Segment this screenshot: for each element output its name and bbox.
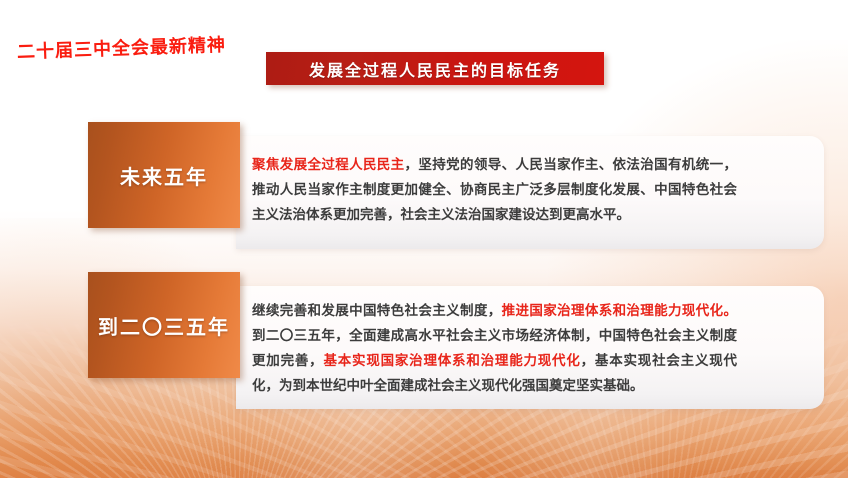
period-tag-2: 到二〇三五年 <box>88 272 240 378</box>
body-text-segment: 继续完善和发展中国特色社会主义制度， <box>252 303 502 318</box>
period-tag-label-1: 未来五年 <box>120 161 208 190</box>
highlighted-text-segment: 基本实现国家治理体系和治理能力现代化 <box>323 353 580 368</box>
period-tag-1: 未来五年 <box>88 122 240 228</box>
presentation-slide: 二十届三中全会最新精神 发展全过程人民民主的目标任务 未来五年 聚焦发展全过程人… <box>0 0 848 478</box>
highlighted-text-segment: 推进国家治理体系和治理能力现代化。 <box>502 303 737 318</box>
slide-title-banner: 发展全过程人民民主的目标任务 <box>266 52 604 85</box>
period-tag-label-2: 到二〇三五年 <box>98 311 230 340</box>
slide-title-text: 发展全过程人民民主的目标任务 <box>309 57 561 81</box>
content-paragraph-2: 继续完善和发展中国特色社会主义制度，推进国家治理体系和治理能力现代化。到二〇三五… <box>252 298 737 398</box>
highlighted-text-segment: 聚焦发展全过程人民民主 <box>252 157 405 172</box>
content-paragraph-1: 聚焦发展全过程人民民主，坚持党的领导、人民当家作主、依法治国有机统一，推动人民当… <box>252 152 737 227</box>
